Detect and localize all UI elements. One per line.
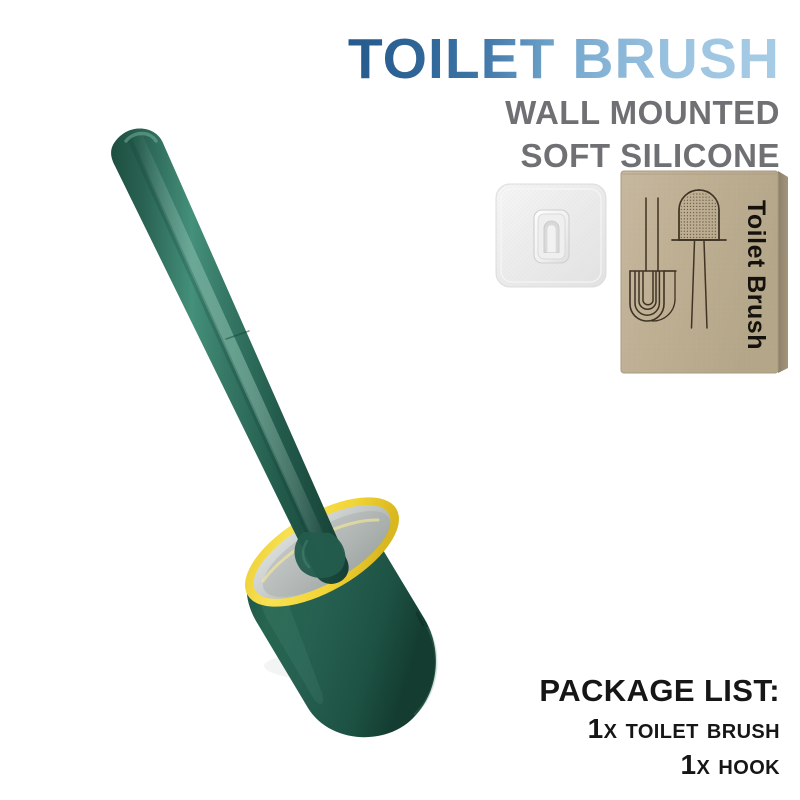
hook-clip (534, 210, 569, 263)
brush-handle (111, 129, 349, 584)
page-title: TOILET BRUSH (348, 30, 780, 90)
toilet-brush-product-image (60, 100, 480, 680)
handle-gloss (136, 136, 332, 568)
package-list-heading: PACKAGE LIST: (539, 673, 780, 710)
adhesive-hook-image (492, 180, 612, 292)
package-list-item-2: 1x Hook (539, 748, 780, 782)
product-box-image: Toilet Brush (618, 168, 790, 380)
package-list-block: PACKAGE LIST: 1x Toilet Brush 1x Hook (539, 673, 780, 782)
brush-holder (228, 475, 436, 737)
package-list-item-1: 1x Toilet Brush (539, 712, 780, 746)
box-label-toilet-brush: Toilet Brush (742, 200, 770, 350)
box-label-text: Toilet Brush (742, 200, 770, 350)
box-side-panel (778, 171, 788, 373)
